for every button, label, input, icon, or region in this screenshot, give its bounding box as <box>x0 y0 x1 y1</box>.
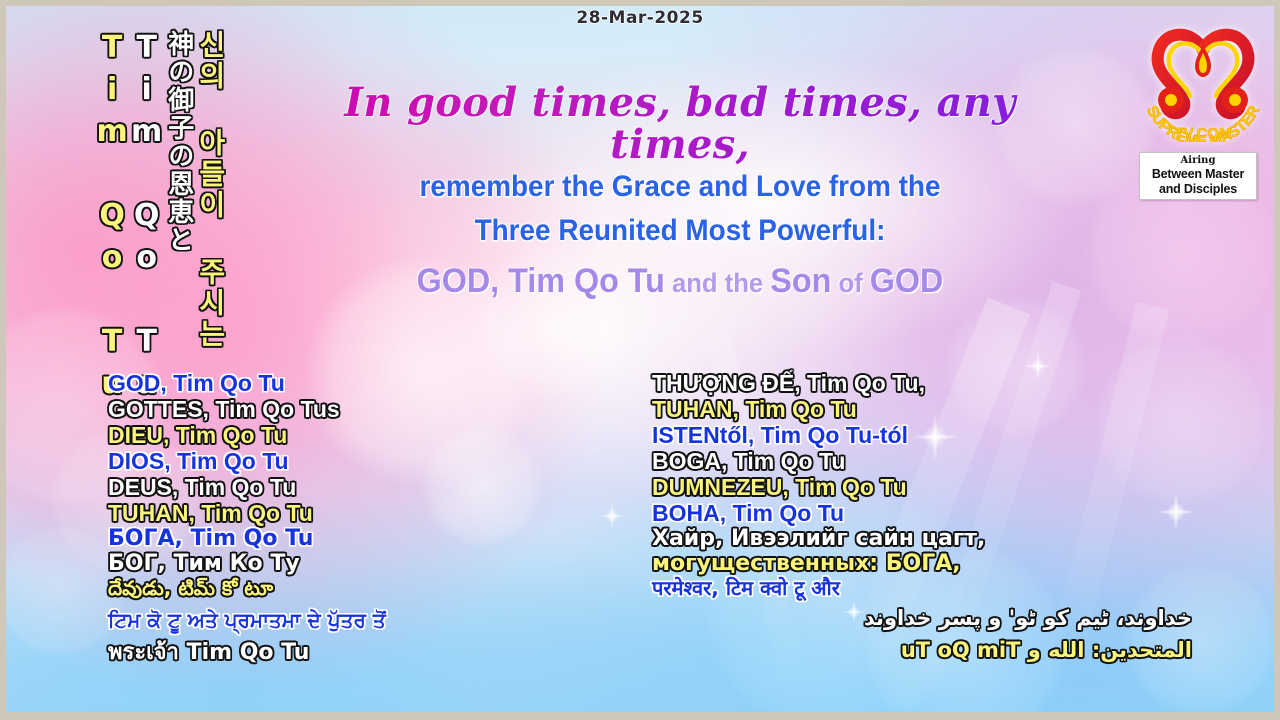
headline-script-line: In good times, bad times, any times, <box>270 82 1090 165</box>
svg-text:TV.COM: TV.COM <box>1175 125 1232 142</box>
translation-line: могущественных: БОГА, <box>652 553 1192 575</box>
headline-part-god-tqt: GOD, Tim Qo Tu <box>417 262 665 300</box>
headline-part-and-the: and the <box>665 268 770 298</box>
broadcast-slide: 28-Mar-2025 신의 아들이 주시는 神の御子の恩恵と Tim Qo T… <box>0 0 1280 720</box>
translation-line: พระเจ้า Tim Qo Tu <box>108 642 628 671</box>
headline-lavender-line: GOD, Tim Qo Tu and the Son of GOD <box>291 257 1070 305</box>
headline-part-son: Son <box>770 262 831 300</box>
translations-right-column: THƯỢNG ĐẾ, Tim Qo Tu, TUHAN, Tim Qo Tu I… <box>652 372 1192 672</box>
translation-line: ਟਿਮ ਕੋ ਟੂ ਅਤੇ ਪ੍ਰਮਾਤਮਾ ਦੇ ਪੁੱਤਰ ਤੋਂ <box>108 610 628 639</box>
translation-line: المتحدين: الله و Tim Qo Tu <box>652 640 1192 669</box>
airing-badge: Airing Between Master and Disciples <box>1139 152 1257 200</box>
headline-part-god: GOD <box>870 262 944 300</box>
translation-line: DUMNEZEU, Tim Qo Tu <box>652 476 1192 499</box>
translation-line: THƯỢNG ĐẾ, Tim Qo Tu, <box>652 372 1192 395</box>
broadcast-date: 28-Mar-2025 <box>0 8 1280 28</box>
translation-line: Хайр, Ивээлийг сайн цагт, <box>652 528 1192 550</box>
translation-line: БОГ, Тим Ко Ту <box>108 553 628 575</box>
translation-line: TUHAN, Tim Qo Tu <box>108 502 628 525</box>
vertical-title-group: 신의 아들이 주시는 神の御子の恩恵と Tim Qo Tu Tim Qo Tu <box>96 30 224 290</box>
headline-block: In good times, bad times, any times, rem… <box>270 82 1090 305</box>
vertical-title-japanese: 神の御子の恩恵と <box>165 30 192 254</box>
translation-line: BOGA, Tim Qo Tu <box>652 450 1192 473</box>
translation-line: దేవుడు, టిమ్ కో టూ <box>108 578 628 607</box>
translation-line: ISTENtől, Tim Qo Tu-tól <box>652 424 1192 447</box>
translation-line: DIEU, Tim Qo Tu <box>108 424 628 447</box>
translations-left-column: GOD, Tim Qo Tu GOTTES, Tim Qo Tus DIEU, … <box>108 372 628 674</box>
headline-blue-line-1: remember the Grace and Love from the <box>299 165 1062 209</box>
translation-line: خداوند، ٹیم کو ٹو' و پسر خداوند <box>652 608 1192 637</box>
translation-line: TUHAN, Tim Qo Tu <box>652 398 1192 421</box>
airing-title-1: Between Master <box>1144 167 1252 182</box>
translation-line: परमेश्वर, टिम क्वो टू और <box>652 578 1192 605</box>
airing-title-2: and Disciples <box>1144 182 1252 197</box>
airing-label: Airing <box>1144 155 1252 167</box>
translation-line: DEUS, Tim Qo Tu <box>108 476 628 499</box>
vertical-title-latin-yellow: Tim Qo Tu <box>96 30 127 408</box>
translation-line: DIOS, Tim Qo Tu <box>108 450 628 473</box>
headline-part-of: of <box>831 268 869 298</box>
translation-line: БОГА, Tim Qo Tu <box>108 528 628 550</box>
vertical-title-latin-white: Tim Qo Tu <box>131 30 162 408</box>
translation-line: GOD, Tim Qo Tu <box>108 372 628 395</box>
headline-blue-line-2: Three Reunited Most Powerful: <box>299 209 1062 253</box>
translation-line: GOTTES, Tim Qo Tus <box>108 398 628 421</box>
vertical-title-korean: 신의 아들이 주시는 <box>196 30 225 350</box>
translation-line: BOHA, Tim Qo Tu <box>652 502 1192 525</box>
supreme-master-heart-logo-icon[interactable]: SUPREME MASTER TV.COM <box>1140 16 1266 142</box>
